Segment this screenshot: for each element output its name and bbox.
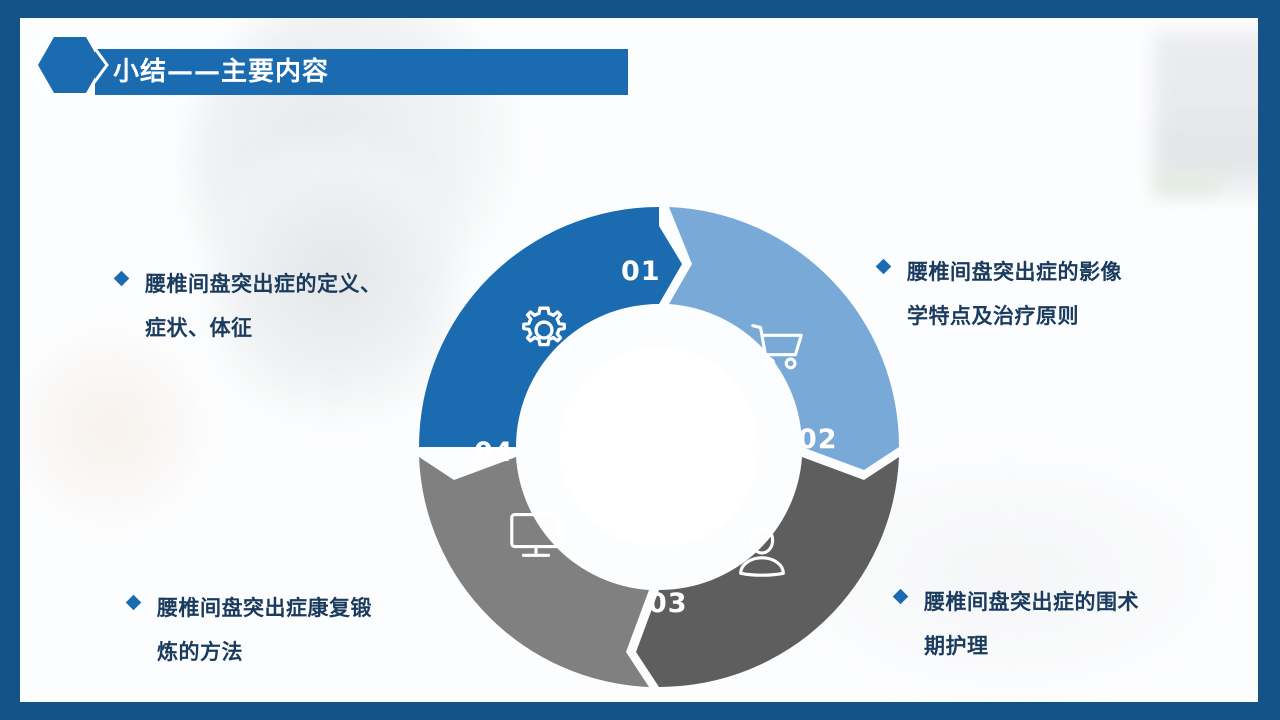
monitor-icon bbox=[505, 502, 567, 564]
slide-canvas: 小结——主要内容 01 02 03 04 bbox=[20, 18, 1258, 702]
callout-bottom-left-text: 腰椎间盘突出症康复锻 炼的方法 bbox=[157, 586, 372, 674]
bullet-diamond-icon bbox=[114, 271, 130, 287]
callout-bottom-left: 腰椎间盘突出症康复锻 炼的方法 bbox=[128, 586, 468, 674]
person-icon bbox=[731, 521, 793, 583]
page-title: 小结——主要内容 bbox=[113, 54, 329, 90]
segment-number-02: 02 bbox=[798, 424, 838, 455]
segment-number-04: 04 bbox=[474, 437, 514, 468]
callout-top-left-text: 腰椎间盘突出症的定义、 症状、体征 bbox=[145, 262, 382, 350]
callout-line: 期护理 bbox=[924, 624, 1139, 668]
bullet-diamond-icon bbox=[893, 589, 909, 605]
callout-line: 腰椎间盘突出症康复锻 bbox=[157, 586, 372, 630]
callout-top-right-text: 腰椎间盘突出症的影像 学特点及治疗原则 bbox=[907, 250, 1122, 338]
callout-line: 腰椎间盘突出症的围术 bbox=[924, 580, 1139, 624]
callout-line: 腰椎间盘突出症的影像 bbox=[907, 250, 1122, 294]
callout-bottom-right-text: 腰椎间盘突出症的围术 期护理 bbox=[924, 580, 1139, 668]
background-photo-screen-accent bbox=[1156, 173, 1218, 195]
callout-top-right: 腰椎间盘突出症的影像 学特点及治疗原则 bbox=[878, 250, 1208, 338]
bullet-diamond-icon bbox=[876, 259, 892, 275]
background-photo-screen-band bbox=[1160, 128, 1258, 173]
callout-line: 炼的方法 bbox=[157, 630, 372, 674]
callout-top-left: 腰椎间盘突出症的定义、 症状、体征 bbox=[116, 262, 456, 350]
callout-line: 症状、体征 bbox=[145, 306, 382, 350]
callout-bottom-right: 腰椎间盘突出症的围术 期护理 bbox=[895, 580, 1225, 668]
slide-title-group: 小结——主要内容 bbox=[25, 31, 645, 99]
background-photo-warm-blur bbox=[20, 318, 210, 538]
slide-frame: 小结——主要内容 01 02 03 04 bbox=[0, 0, 1280, 720]
segment-number-03: 03 bbox=[648, 588, 688, 619]
gear-icon bbox=[513, 299, 575, 361]
shopping-cart-icon bbox=[747, 314, 809, 376]
background-photo-screen bbox=[1154, 32, 1258, 197]
process-cycle-donut: 01 02 03 04 bbox=[416, 204, 902, 690]
title-hexagon-fill-icon bbox=[38, 37, 102, 93]
callout-line: 腰椎间盘突出症的定义、 bbox=[145, 262, 382, 306]
segment-number-01: 01 bbox=[621, 256, 661, 287]
donut-center-hole bbox=[559, 347, 759, 547]
callout-line: 学特点及治疗原则 bbox=[907, 294, 1122, 338]
bullet-diamond-icon bbox=[126, 595, 142, 611]
